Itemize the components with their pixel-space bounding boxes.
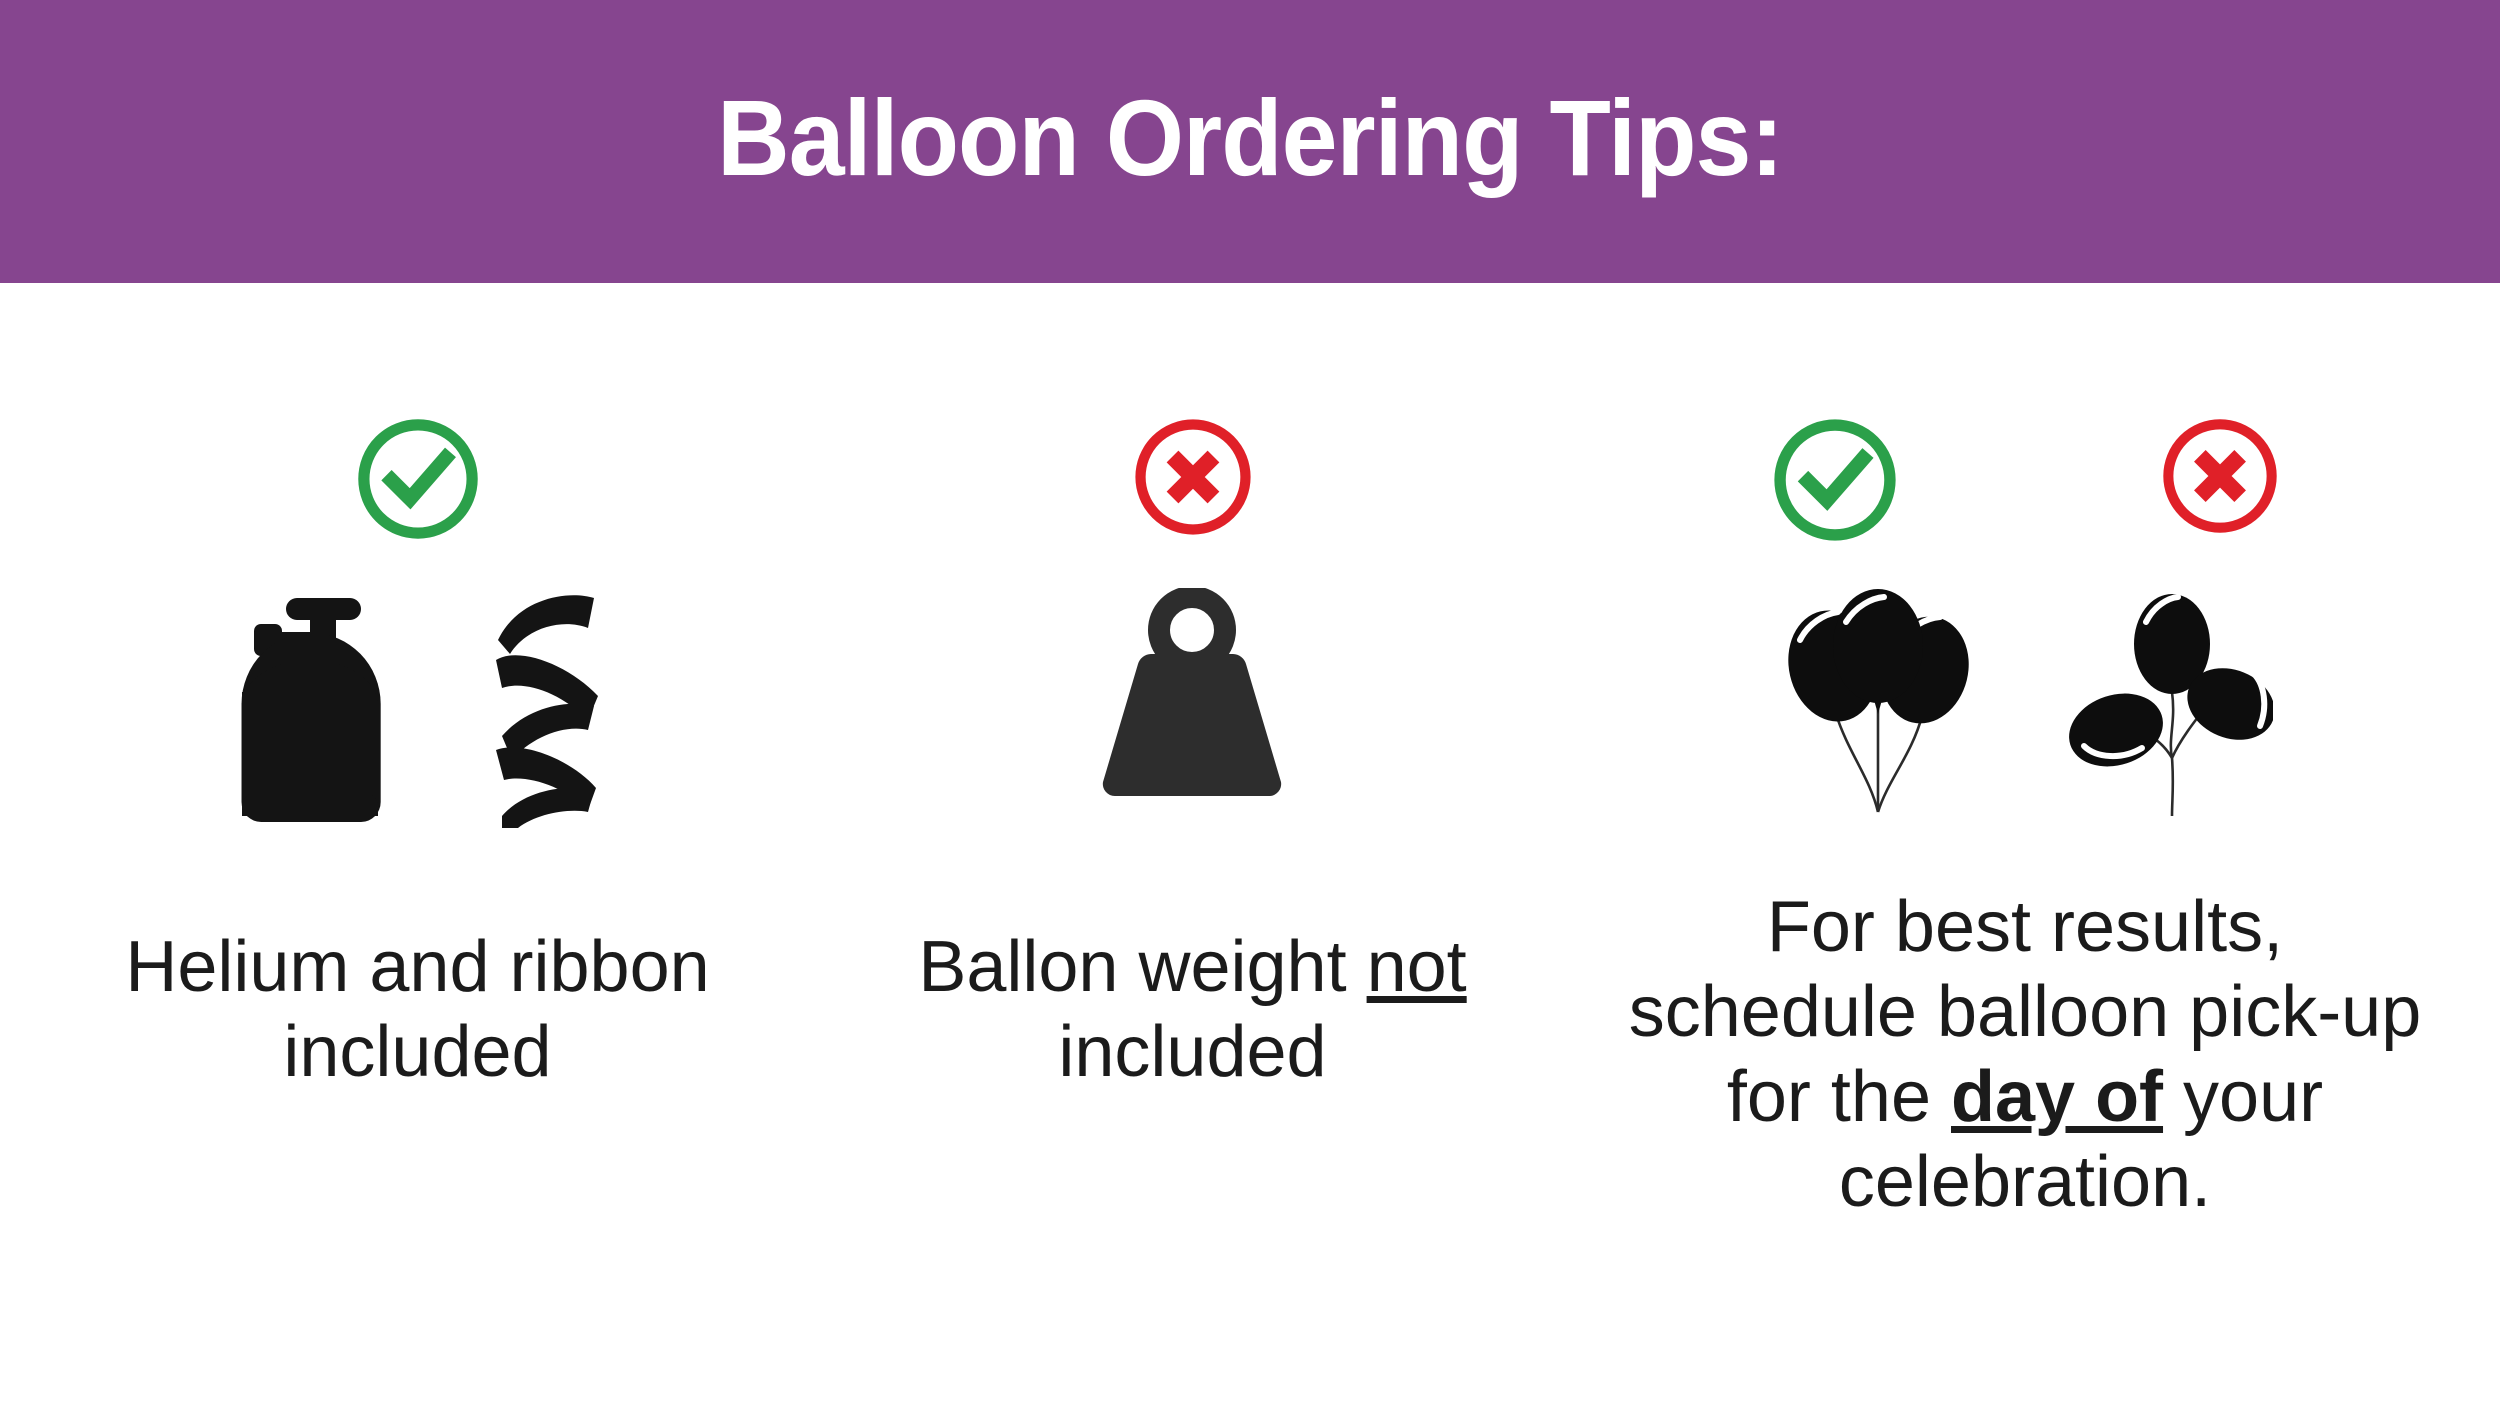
caption-line-1: Ballon weight not (835, 925, 1550, 1010)
check-circle-icon (1768, 413, 1902, 547)
header-banner: Balloon Ordering Tips: (0, 0, 2500, 283)
tip-caption: Ballon weight not included (835, 925, 1550, 1095)
tip-caption: Helium and ribbon included (0, 925, 835, 1095)
deflated-balloons-icon (2068, 588, 2273, 820)
inflated-balloons-icon (1778, 588, 1978, 820)
status-icon-row (1550, 413, 2500, 547)
caption-emphasis: day of (1951, 1057, 2163, 1137)
cross-circle-icon (2157, 413, 2283, 539)
tip-caption: For best results, schedule balloon pick-… (1550, 885, 2500, 1225)
caption-text-prefix: Helium and ribbon (125, 927, 709, 1007)
caption-line-1: Helium and ribbon (0, 925, 835, 1010)
illustration-row (1550, 588, 2500, 820)
caption-line-2: included (0, 1010, 835, 1095)
check-circle-icon (352, 413, 484, 545)
tips-content-area: Helium and ribbon included Ballon weight… (0, 283, 2500, 1406)
illustration-row (835, 588, 1550, 803)
balloon-weight-icon (1075, 588, 1310, 803)
cross-circle-icon (1129, 413, 1257, 541)
caption-text-prefix: Ballon weight (918, 927, 1366, 1007)
caption-emphasis: not (1367, 927, 1467, 1007)
status-icon-row (835, 413, 1550, 541)
tip-card-helium-ribbon: Helium and ribbon included (0, 283, 835, 1406)
page-title: Balloon Ordering Tips: (717, 84, 1783, 192)
tip-card-balloon-weight: Ballon weight not included (835, 283, 1550, 1406)
caption-line-2: included (835, 1010, 1550, 1095)
helium-tank-icon (228, 596, 388, 828)
illustration-row (0, 588, 835, 828)
tip-card-pickup-timing: For best results, schedule balloon pick-… (1550, 283, 2500, 1406)
curled-ribbon-icon (488, 588, 608, 828)
status-icon-row (0, 413, 835, 545)
